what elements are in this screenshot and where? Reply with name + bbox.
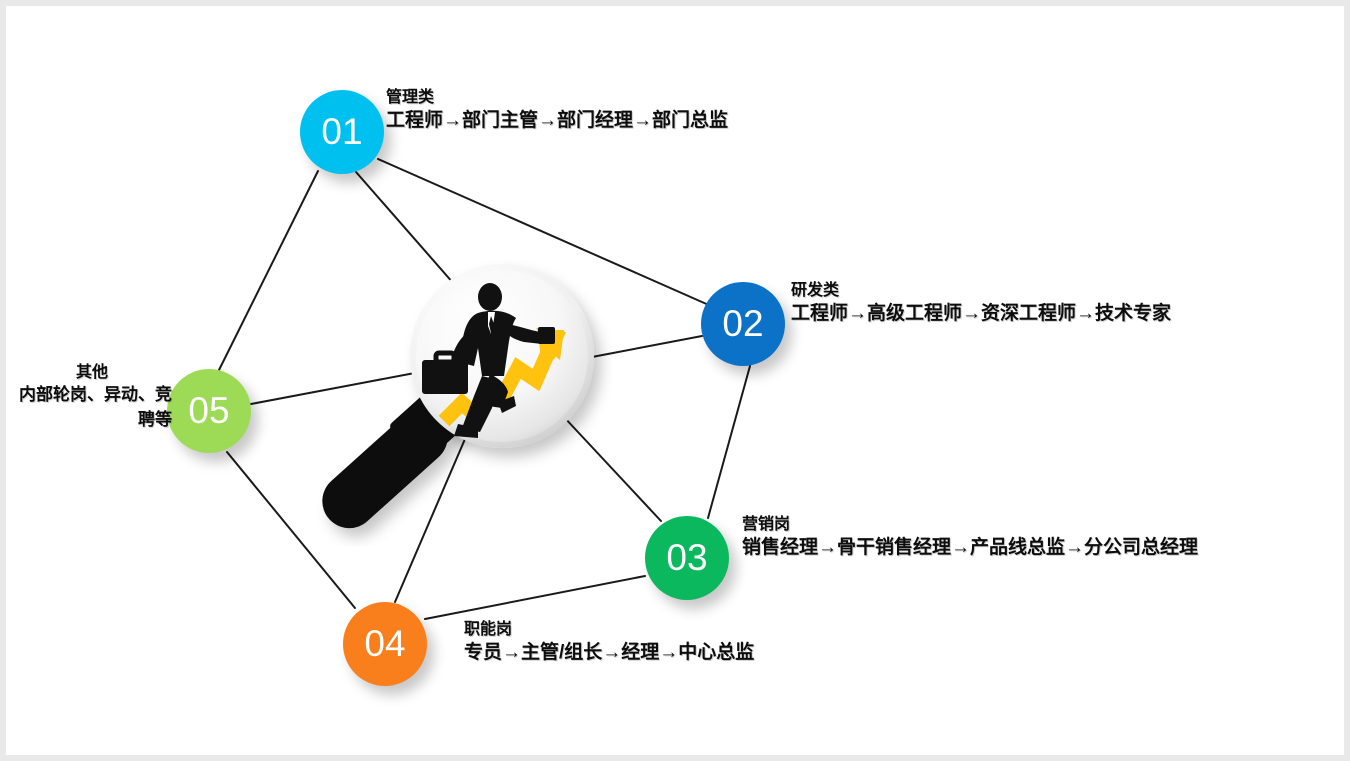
label-03-path: 销售经理→骨干销售经理→产品线总监→分公司总经理: [742, 535, 1198, 561]
label-04-path: 专员→主管/组长→经理→中心总监: [464, 640, 754, 666]
label-01-category: 管理类: [386, 88, 728, 108]
label-05-path: 内部轮岗、异动、竞聘等: [12, 383, 172, 432]
label-05-category: 其他: [12, 363, 172, 383]
label-01: 管理类 工程师→部门主管→部门经理→部门总监: [386, 88, 728, 134]
edge-03-04: [425, 576, 645, 619]
node-02[interactable]: 02: [701, 282, 785, 366]
label-03: 营销岗 销售经理→骨干销售经理→产品线总监→分公司总经理: [742, 515, 1198, 561]
label-02-path: 工程师→高级工程师→资深工程师→技术专家: [791, 301, 1171, 327]
node-04[interactable]: 04: [343, 602, 427, 686]
label-02-category: 研发类: [791, 281, 1171, 301]
node-05[interactable]: 05: [167, 369, 251, 453]
node-03-number: 03: [666, 539, 707, 576]
label-05: 其他 内部轮岗、异动、竞聘等: [12, 363, 172, 432]
label-04: 职能岗 专员→主管/组长→经理→中心总监: [464, 620, 754, 666]
label-03-category: 营销岗: [742, 515, 1198, 535]
magnifier-icon: [302, 256, 612, 546]
node-01[interactable]: 01: [300, 90, 384, 174]
node-02-number: 02: [722, 305, 763, 342]
node-04-number: 04: [364, 625, 405, 662]
node-05-number: 05: [188, 392, 229, 429]
label-02: 研发类 工程师→高级工程师→资深工程师→技术专家: [791, 281, 1171, 327]
node-03[interactable]: 03: [645, 516, 729, 600]
label-04-category: 职能岗: [464, 620, 754, 640]
edge-02-03: [708, 366, 750, 518]
node-01-number: 01: [321, 113, 362, 150]
label-01-path: 工程师→部门主管→部门经理→部门总监: [386, 108, 728, 134]
diagram-canvas: 01 02 03 04 05 管理类 工程师→部门主管→部门经理→部门总监 研发…: [6, 6, 1344, 755]
